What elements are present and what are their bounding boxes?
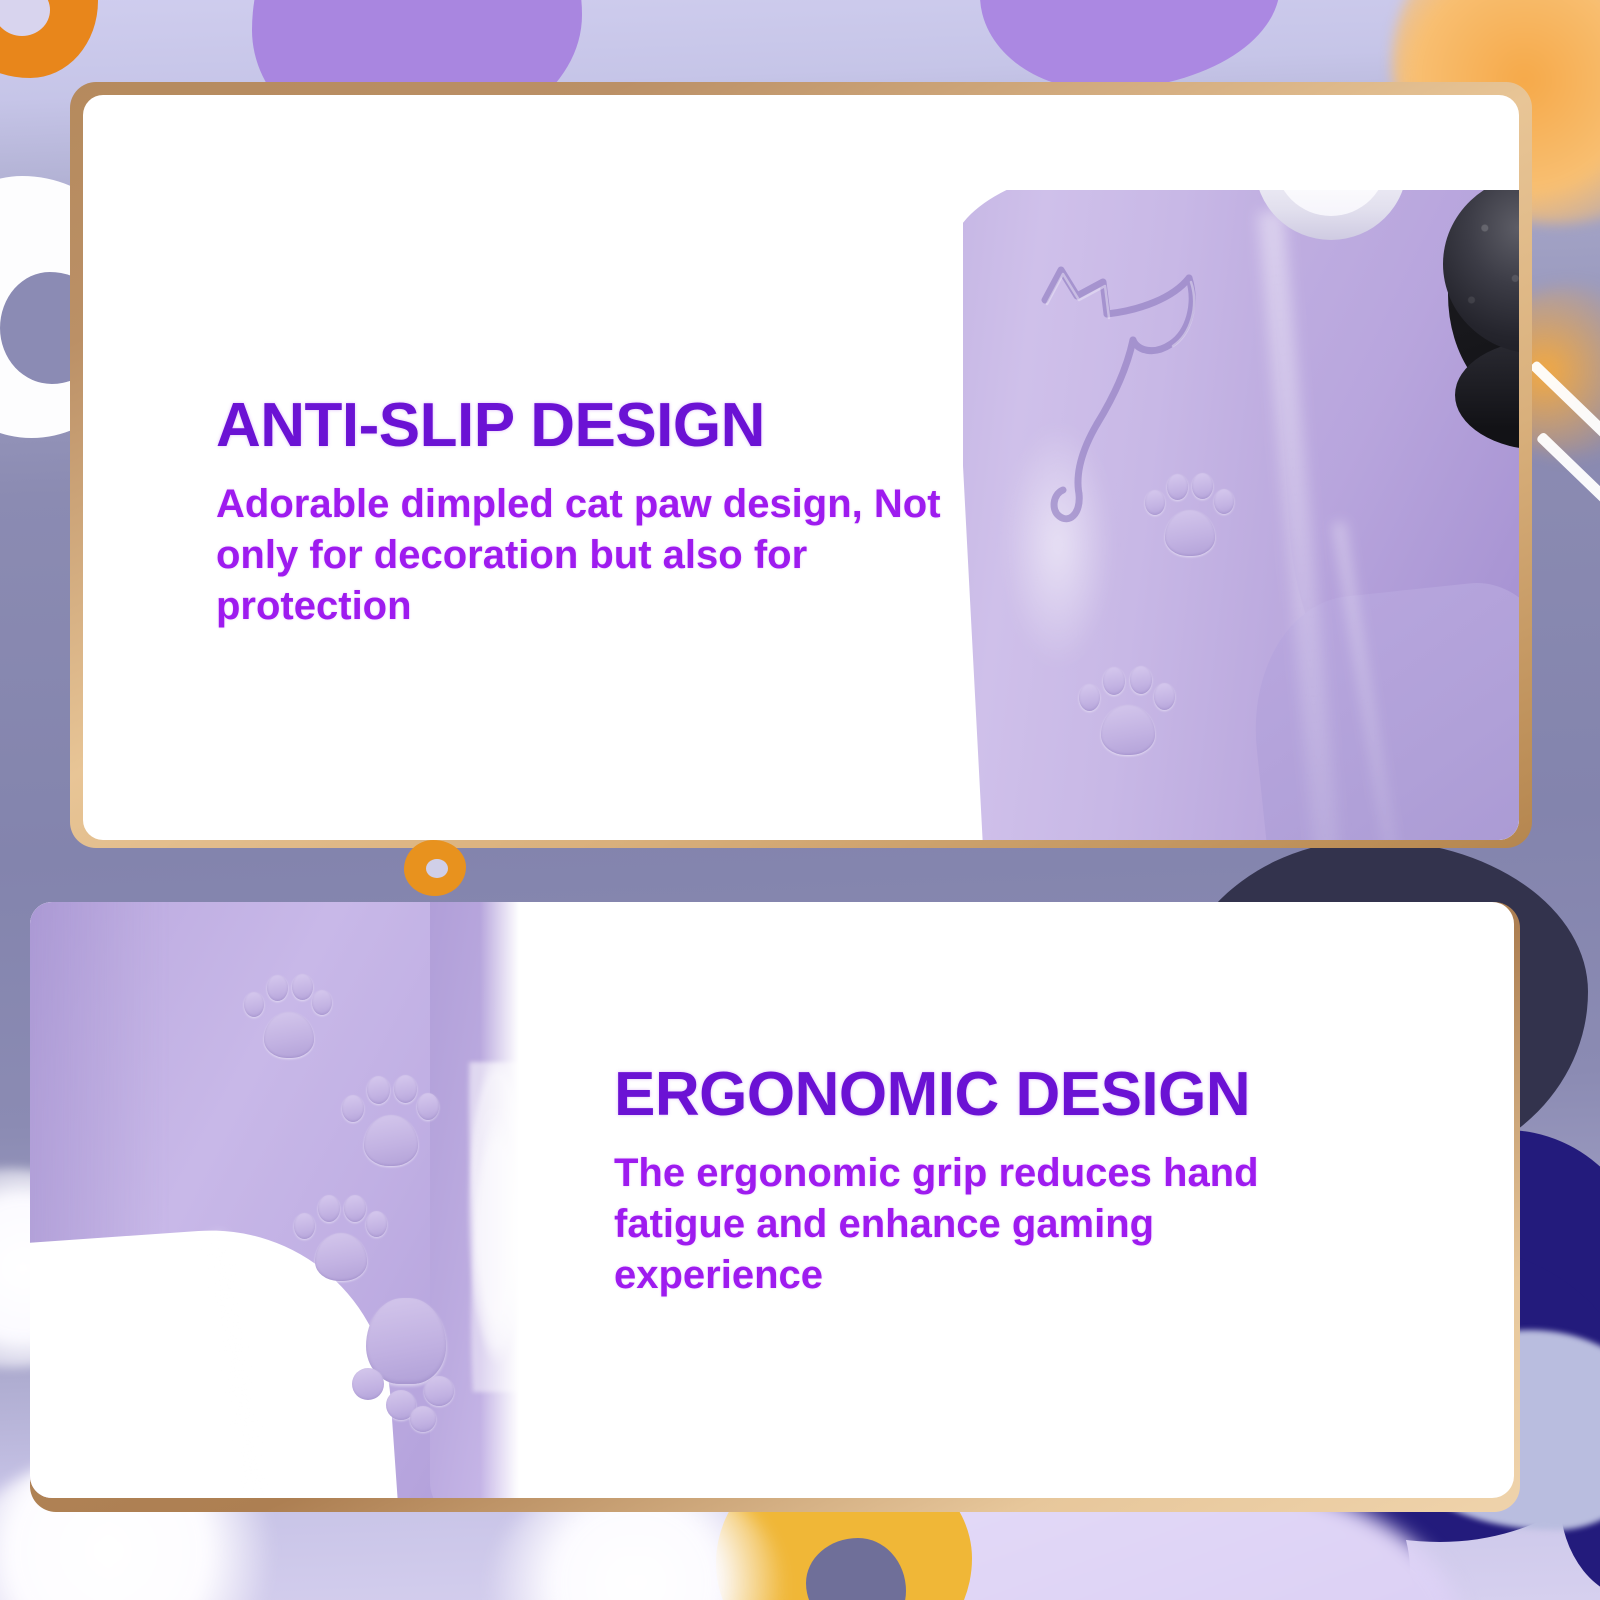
paw-print-icon [340,1070,440,1166]
orange-ring-divider-icon [404,840,466,896]
ergonomic-text-block: ERGONOMIC DESIGN The ergonomic grip redu… [614,1064,1484,1302]
ergonomic-body: The ergonomic grip reduces hand fatigue … [614,1148,1314,1302]
ergonomic-headline: ERGONOMIC DESIGN [614,1064,1484,1126]
large-paw-pad-icon [352,1298,472,1438]
ergonomic-product-image [30,902,530,1498]
paw-print-icon [242,970,334,1058]
paw-print-icon [292,1190,388,1282]
anti-slip-body: Adorable dimpled cat paw design, Not onl… [216,479,946,633]
image-fade-edge [480,902,530,1498]
infographic-stage: ANTI-SLIP DESIGN Adorable dimpled cat pa… [0,0,1600,1600]
anti-slip-product-image [963,190,1519,840]
anti-slip-headline: ANTI-SLIP DESIGN [216,395,976,457]
anti-slip-text-block: ANTI-SLIP DESIGN Adorable dimpled cat pa… [216,395,976,633]
paw-print-icon [1141,468,1239,560]
paw-print-icon [1075,660,1181,760]
anti-slip-card: ANTI-SLIP DESIGN Adorable dimpled cat pa… [83,95,1519,840]
